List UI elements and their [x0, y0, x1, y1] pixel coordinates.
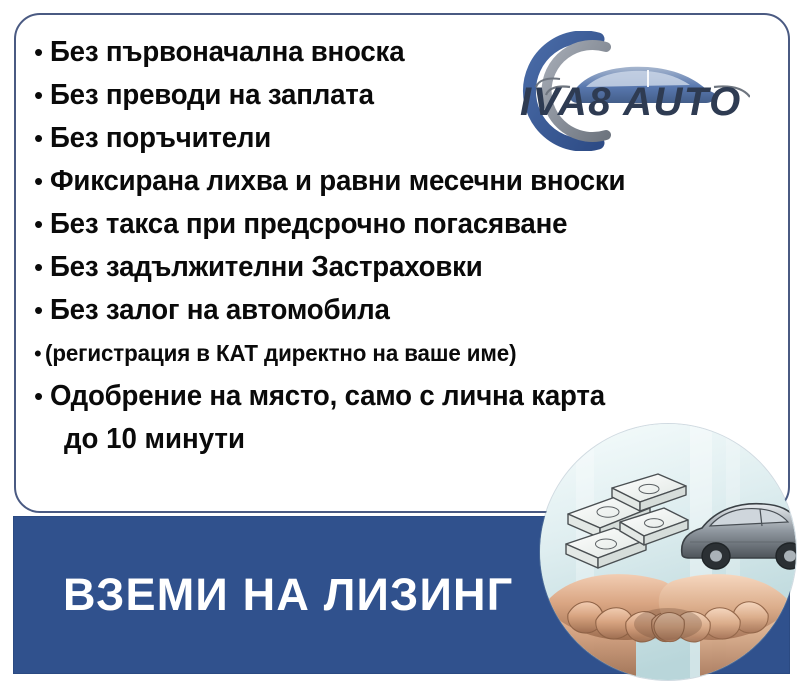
note-kat-registration: (регистрация в КАТ директно на ваше име)	[45, 332, 760, 375]
hands-holding-money-and-car-photo	[540, 424, 796, 680]
bullet-dot-icon: •	[34, 31, 50, 74]
bullet-dot-icon: •	[34, 246, 50, 289]
ivas-auto-logo: IVA8 AUTO	[502, 31, 750, 151]
bullet-dot-icon: •	[34, 332, 45, 375]
bullet-dot-icon: •	[34, 203, 50, 246]
bullet-dot-icon: •	[34, 289, 50, 332]
benefit-no-early-repayment-fee: Без такса при предсрочно погасяване	[50, 203, 760, 246]
bullet-dot-icon: •	[34, 160, 50, 203]
benefit-no-mandatory-insurance: Без задължителни Застраховки	[50, 246, 760, 289]
list-item: • Одобрение на място, само с лична карта	[34, 375, 782, 418]
benefit-fixed-rate: Фиксирана лихва и равни месечни вноски	[50, 160, 760, 203]
list-item: • Без задължителни Застраховки	[34, 246, 782, 289]
list-item: • Без залог на автомобила	[34, 289, 782, 332]
list-item: • (регистрация в КАТ директно на ваше им…	[34, 332, 782, 375]
list-item: • Без такса при предсрочно погасяване	[34, 203, 782, 246]
bullet-dot-icon: •	[34, 74, 50, 117]
bullet-dot-icon: •	[34, 375, 50, 418]
benefit-on-site-approval: Одобрение на място, само с лична карта	[50, 375, 760, 418]
cta-headline: ВЗЕМИ НА ЛИЗИНГ	[63, 569, 513, 621]
list-item: • Фиксирана лихва и равни месечни вноски	[34, 160, 782, 203]
bullet-dot-icon: •	[34, 117, 50, 160]
logo-wordmark: IVA8 AUTO	[520, 80, 742, 124]
poster-root: • Без първоначална вноска • Без преводи …	[0, 0, 800, 698]
benefit-no-car-pledge: Без залог на автомобила	[50, 289, 760, 332]
